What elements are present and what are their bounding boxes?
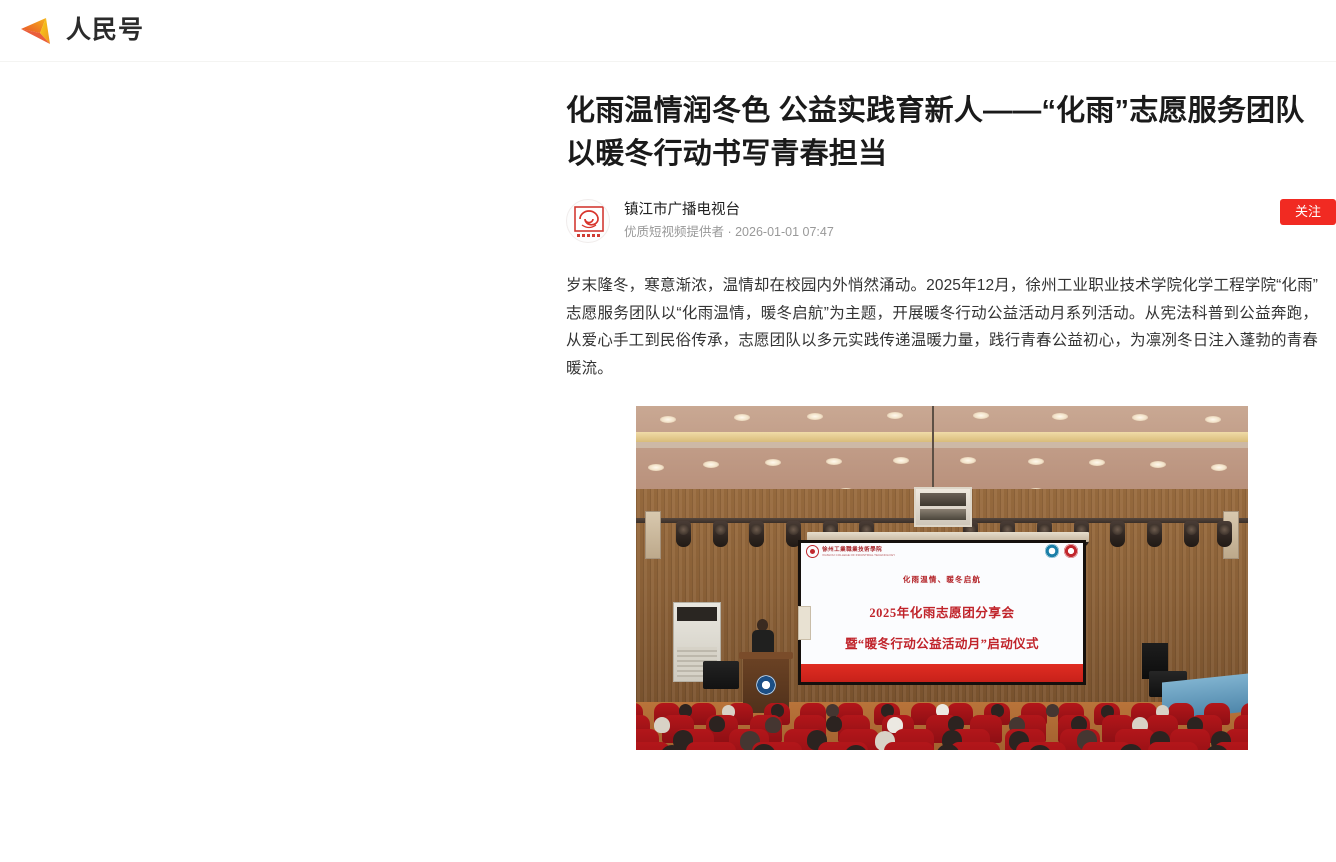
auditorium-launch-ceremony-photo[interactable]: 徐州工業職業技術學院 XUZHOU COLLEGE OF INDUSTRIAL … — [636, 406, 1248, 750]
site-header: 人民号 — [0, 0, 1336, 62]
projector-cable — [932, 406, 934, 489]
stage-par-light — [1184, 521, 1199, 547]
article-body: 岁末隆冬，寒意渐浓，温情却在校园内外悄然涌动。2025年12月，徐州工业职业技术… — [566, 272, 1318, 382]
downlight-icon — [826, 458, 842, 465]
screen-footer-bar — [801, 664, 1083, 682]
stage-par-light — [1147, 521, 1162, 547]
follow-button[interactable]: 关注 — [1280, 199, 1336, 225]
screen-headline: 2025年化雨志愿团分享会 — [869, 602, 1014, 621]
byline-meta: 优质短视频提供者 · 2026-01-01 07:47 — [624, 223, 834, 242]
photo-scene: 徐州工業職業技術學院 XUZHOU COLLEGE OF INDUSTRIAL … — [636, 406, 1248, 750]
hanging-speaker — [645, 511, 661, 559]
downlight-icon — [807, 413, 823, 420]
blue-emblem-icon — [1045, 544, 1059, 558]
byline-text: 镇江市广播电视台 优质短视频提供者 · 2026-01-01 07:47 — [624, 200, 834, 242]
stage-par-light — [1217, 521, 1232, 547]
ceiling-light-band — [636, 432, 1248, 442]
ceiling-trim — [636, 442, 1248, 448]
page-title: 化雨温情润冬色 公益实践育新人——“化雨”志愿服务团队以暖冬行动书写青春担当 — [566, 62, 1318, 176]
wall-calligraphy-scroll — [798, 606, 811, 640]
screen-badges — [1045, 544, 1078, 558]
brand-name: 人民号 — [66, 18, 144, 43]
screen-org-name-cn: 徐州工業職業技術學院 — [822, 545, 895, 553]
screen-subtitle: 化雨温情、暖冬启航 — [903, 574, 981, 585]
projection-screen: 徐州工業職業技術學院 XUZHOU COLLEGE OF INDUSTRIAL … — [798, 540, 1086, 684]
brand-home-link[interactable]: 人民号 — [20, 16, 144, 46]
stage-par-light — [676, 521, 691, 547]
downlight-icon — [1052, 413, 1068, 420]
ceiling-projector — [914, 487, 972, 527]
podium-top — [739, 652, 793, 659]
stage-par-light — [713, 521, 728, 547]
audience-seating — [636, 705, 1248, 750]
seal-mark — [806, 545, 819, 558]
avatar[interactable] — [566, 199, 610, 243]
screen-topbar: 徐州工業職業技術學院 XUZHOU COLLEGE OF INDUSTRIAL … — [801, 543, 1083, 560]
article-container: 化雨温情润冬色 公益实践育新人——“化雨”志愿服务团队以暖冬行动书写青春担当 镇… — [566, 62, 1336, 790]
scroll-spacer — [566, 750, 1336, 790]
article-paragraph: 岁末隆冬，寒意渐浓，温情却在校园内外悄然涌动。2025年12月，徐州工业职业技术… — [566, 272, 1318, 382]
screen-org-name-en: XUZHOU COLLEGE OF INDUSTRIAL TECHNOLOGY — [822, 553, 895, 557]
byline: 镇江市广播电视台 优质短视频提供者 · 2026-01-01 07:47 关注 — [566, 198, 1336, 244]
downlight-icon — [1028, 458, 1044, 465]
downlight-icon — [893, 457, 909, 464]
seal-text: 徐州工業職業技術學院 XUZHOU COLLEGE OF INDUSTRIAL … — [822, 545, 895, 557]
university-seal-icon: 徐州工業職業技術學院 XUZHOU COLLEGE OF INDUSTRIAL … — [806, 545, 895, 558]
stage-par-light — [749, 521, 764, 547]
play-arrow-logo-icon — [20, 16, 56, 46]
author-name[interactable]: 镇江市广播电视台 — [624, 200, 834, 220]
screen-subheadline: 暨“暖冬行动公益活动月”启动仪式 — [845, 633, 1039, 652]
stage-monitor-speaker — [703, 661, 739, 689]
downlight-icon — [973, 412, 989, 419]
stage-par-light — [1110, 521, 1125, 547]
broadcaster-seal-avatar — [567, 200, 610, 243]
red-emblem-icon — [1064, 544, 1078, 558]
podium-emblem-icon — [756, 675, 776, 695]
